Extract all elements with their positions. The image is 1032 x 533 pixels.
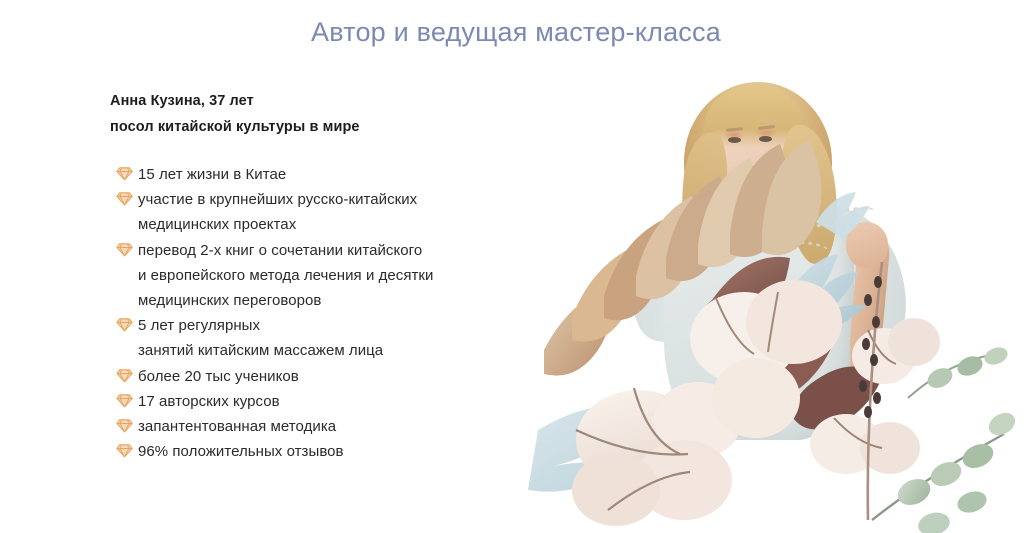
achievement-line: более 20 тыс учеников	[138, 364, 536, 389]
achievement-line: медицинских проектах	[138, 212, 536, 237]
achievement-item: участие в крупнейших русско-китайскихмед…	[116, 187, 536, 237]
author-photo	[516, 0, 1032, 533]
achievement-line: 15 лет жизни в Китае	[138, 162, 536, 187]
gem-icon	[116, 191, 133, 206]
achievement-line: медицинских переговоров	[138, 288, 536, 313]
gem-icon	[116, 368, 133, 383]
achievement-item: запантентованная методика	[116, 414, 536, 439]
gem-icon	[116, 242, 133, 257]
achievement-line: 17 авторских курсов	[138, 389, 536, 414]
achievement-line: 5 лет регулярных	[138, 313, 536, 338]
achievement-line: занятий китайским массажем лица	[138, 338, 536, 363]
gem-icon	[116, 418, 133, 433]
author-name: Анна Кузина, 37 лет	[110, 88, 510, 114]
bio-block: Анна Кузина, 37 лет посол китайской куль…	[110, 88, 510, 140]
achievement-line: 96% положительных отзывов	[138, 439, 536, 464]
gem-icon	[116, 393, 133, 408]
achievement-item: 5 лет регулярныхзанятий китайским массаж…	[116, 313, 536, 363]
achievement-item: более 20 тыс учеников	[116, 364, 536, 389]
watercolor-bouquet	[516, 0, 1032, 533]
achievement-item: 96% положительных отзывов	[116, 439, 536, 464]
achievement-line: перевод 2-х книг о сочетании китайского	[138, 238, 536, 263]
achievement-item: перевод 2-х книг о сочетании китайскогои…	[116, 238, 536, 314]
slide-root: Автор и ведущая мастер-класса Анна Кузин…	[0, 0, 1032, 533]
gem-icon	[116, 166, 133, 181]
gem-icon	[116, 317, 133, 332]
achievement-line: участие в крупнейших русско-китайских	[138, 187, 536, 212]
gem-icon	[116, 443, 133, 458]
achievement-line: запантентованная методика	[138, 414, 536, 439]
achievement-line: и европейского метода лечения и десятки	[138, 263, 536, 288]
berry-branch	[859, 262, 882, 520]
achievements-list: 15 лет жизни в Китае участие в крупнейши…	[116, 162, 536, 464]
achievement-item: 15 лет жизни в Китае	[116, 162, 536, 187]
author-role: посол китайской культуры в мире	[110, 114, 510, 140]
achievement-item: 17 авторских курсов	[116, 389, 536, 414]
